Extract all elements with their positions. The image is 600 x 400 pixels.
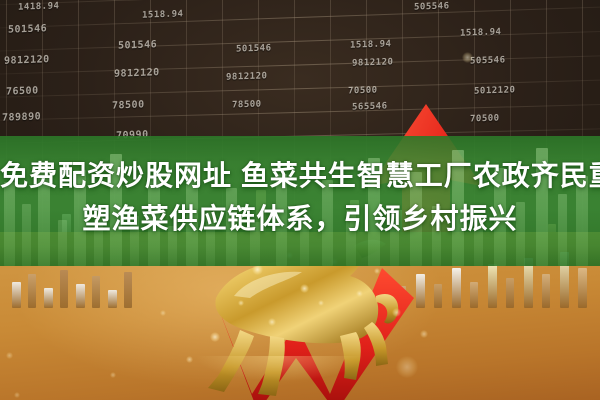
sparkle bbox=[392, 308, 401, 317]
sparkle bbox=[160, 310, 166, 316]
sparkle bbox=[356, 290, 363, 297]
headline-line-2: 塑渔菜供应链体系，引领乡村振兴 bbox=[0, 197, 600, 240]
sparkle bbox=[300, 284, 309, 293]
sparkle bbox=[186, 356, 193, 363]
sparkle bbox=[6, 352, 13, 359]
sparkle bbox=[318, 300, 324, 306]
sparkle bbox=[420, 330, 428, 338]
headline-line-1: 免费配资炒股网址 鱼菜共生智慧工厂农政齐民重 bbox=[0, 154, 600, 197]
sparkle bbox=[396, 356, 418, 378]
sparkle bbox=[374, 268, 380, 274]
banner-headline: 免费配资炒股网址 鱼菜共生智慧工厂农政齐民重 塑渔菜供应链体系，引领乡村振兴 bbox=[0, 154, 600, 240]
sparkle bbox=[268, 318, 276, 326]
sparkle bbox=[210, 332, 220, 342]
stock-banner-image: 1418.941518.945015465055465015461518.949… bbox=[0, 0, 600, 400]
sparkle bbox=[110, 372, 116, 378]
sparkle bbox=[238, 300, 244, 306]
sparkle bbox=[462, 52, 473, 63]
sparkle bbox=[14, 392, 20, 398]
